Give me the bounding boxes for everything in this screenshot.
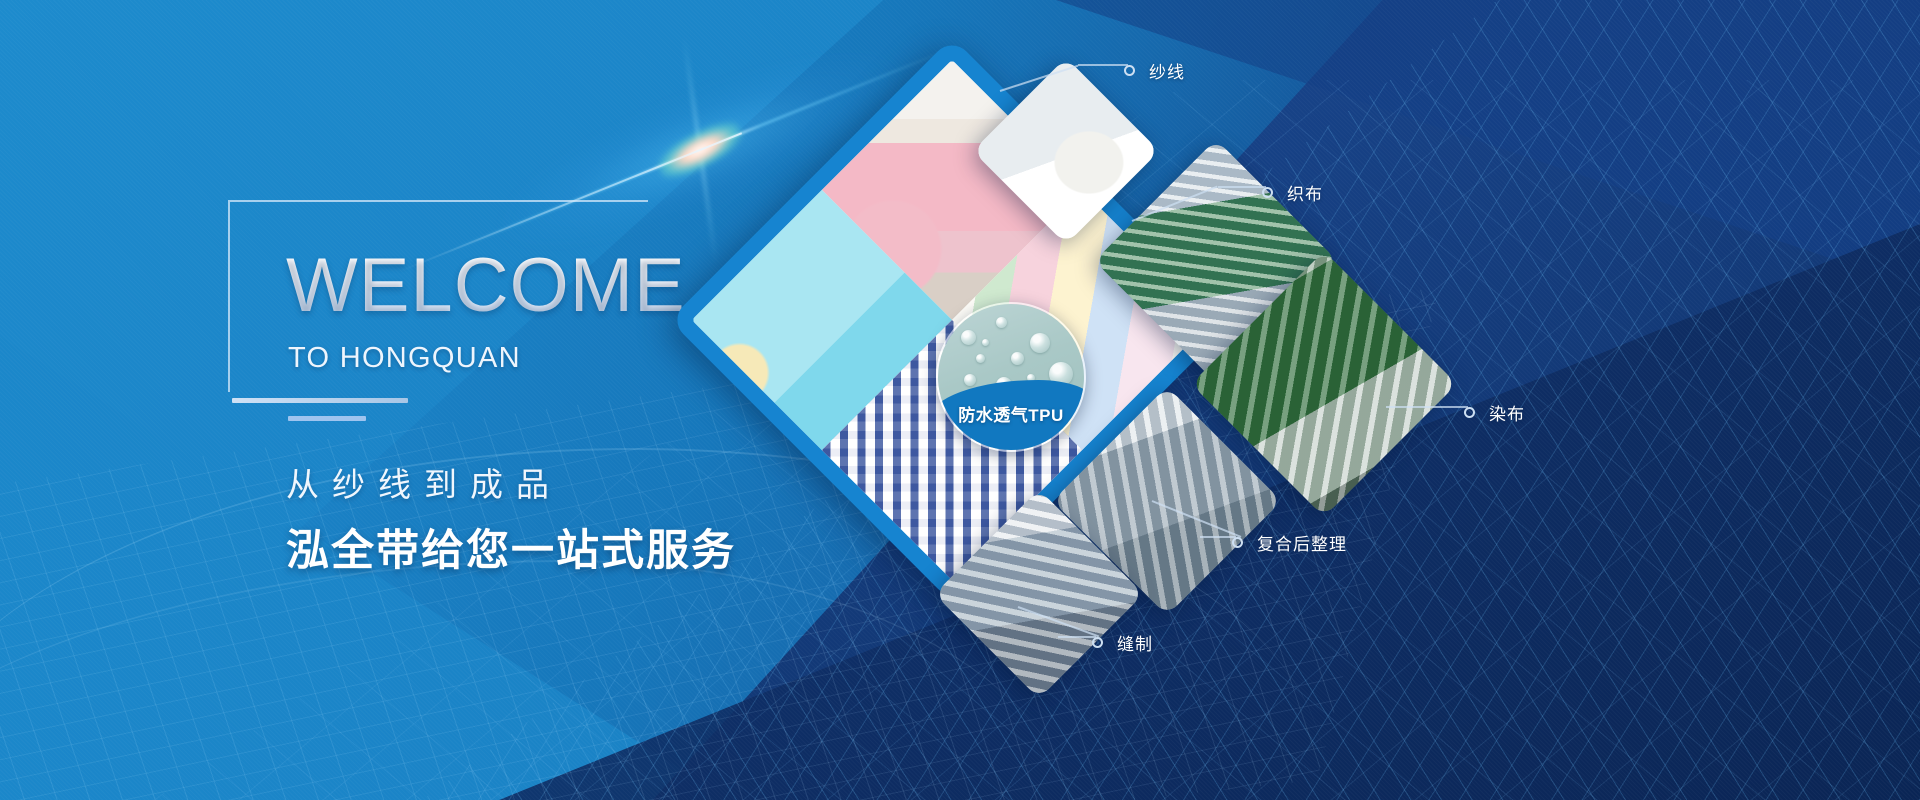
hero-banner: WELCOME TO HONGQUAN 从纱线到成品 泓全带给您一站式服务 bbox=[0, 0, 1920, 800]
callout-dot-icon bbox=[1092, 637, 1103, 648]
tagline: 从纱线到成品 bbox=[286, 458, 562, 506]
divider-short bbox=[288, 416, 366, 421]
tpu-feature-badge: 防水透气TPU bbox=[936, 302, 1086, 452]
callout-dot-icon bbox=[1262, 187, 1273, 198]
page-subtitle: TO HONGQUAN bbox=[288, 342, 521, 375]
callout-label: 染布 bbox=[1489, 400, 1525, 425]
callout-dot-icon bbox=[1232, 537, 1243, 548]
callout-label: 织布 bbox=[1287, 180, 1323, 205]
callout-dot-icon bbox=[1464, 407, 1475, 418]
leader-line-yarn-h bbox=[1078, 64, 1128, 66]
slogan: 泓全带给您一站式服务 bbox=[286, 516, 736, 578]
badge-label: 防水透气TPU bbox=[938, 401, 1084, 426]
leader-line-weaving-h bbox=[1218, 186, 1266, 188]
callout-yarn: 纱线 bbox=[1124, 58, 1185, 83]
callout-label: 缝制 bbox=[1117, 630, 1153, 655]
leader-line-sewing-h bbox=[1058, 636, 1096, 638]
callout-sewing: 缝制 bbox=[1092, 630, 1153, 655]
divider-long bbox=[232, 398, 408, 403]
callout-dot-icon bbox=[1124, 65, 1135, 76]
leader-line-laminating-h bbox=[1200, 536, 1236, 538]
leader-line-dyeing bbox=[1386, 406, 1468, 408]
callout-laminating: 复合后整理 bbox=[1232, 530, 1347, 555]
callout-weaving: 织布 bbox=[1262, 180, 1323, 205]
process-diagram: 防水透气TPU 纱线 织布 染布 bbox=[700, 0, 1920, 800]
page-title: WELCOME bbox=[286, 248, 686, 324]
callout-label: 复合后整理 bbox=[1257, 530, 1347, 555]
callout-dyeing: 染布 bbox=[1464, 400, 1525, 425]
callout-label: 纱线 bbox=[1149, 58, 1185, 83]
